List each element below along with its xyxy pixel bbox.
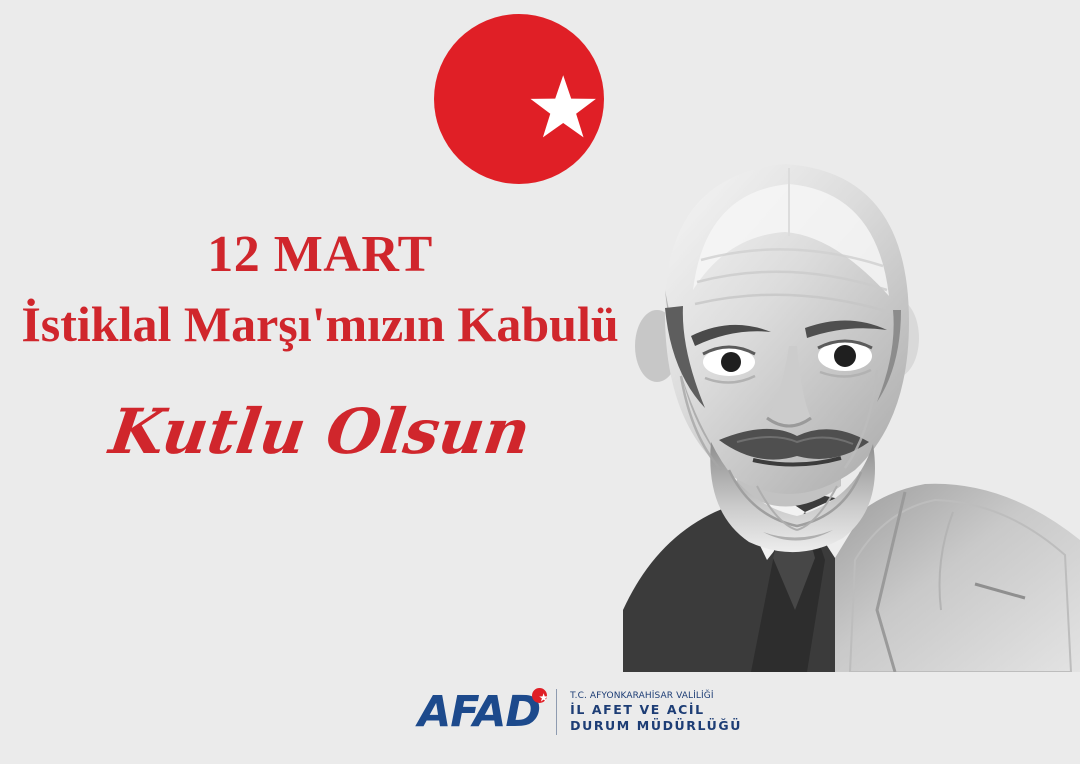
org-line-1: T.C. AFYONKARAHİSAR VALİLİĞİ <box>570 690 742 702</box>
mehmet-akif-ersoy-portrait <box>505 140 1080 672</box>
poster-canvas: 12 MART İstiklal Marşı'mızın Kabulü Kutl… <box>0 0 1080 764</box>
lockup-divider <box>556 689 557 735</box>
afad-wordmark-text: AFAD <box>418 687 540 737</box>
afad-footer-lockup: AFAD T.C. AFYONKARAHİSAR VALİLİĞİ İL AFE… <box>418 684 742 740</box>
org-line-3: DURUM MÜDÜRLÜĞÜ <box>570 718 742 734</box>
afad-wordmark: AFAD <box>418 690 544 734</box>
org-text-block: T.C. AFYONKARAHİSAR VALİLİĞİ İL AFET VE … <box>570 690 742 734</box>
turkish-flag-dot-icon <box>532 688 547 703</box>
org-line-2: İL AFET VE ACİL <box>570 702 742 718</box>
